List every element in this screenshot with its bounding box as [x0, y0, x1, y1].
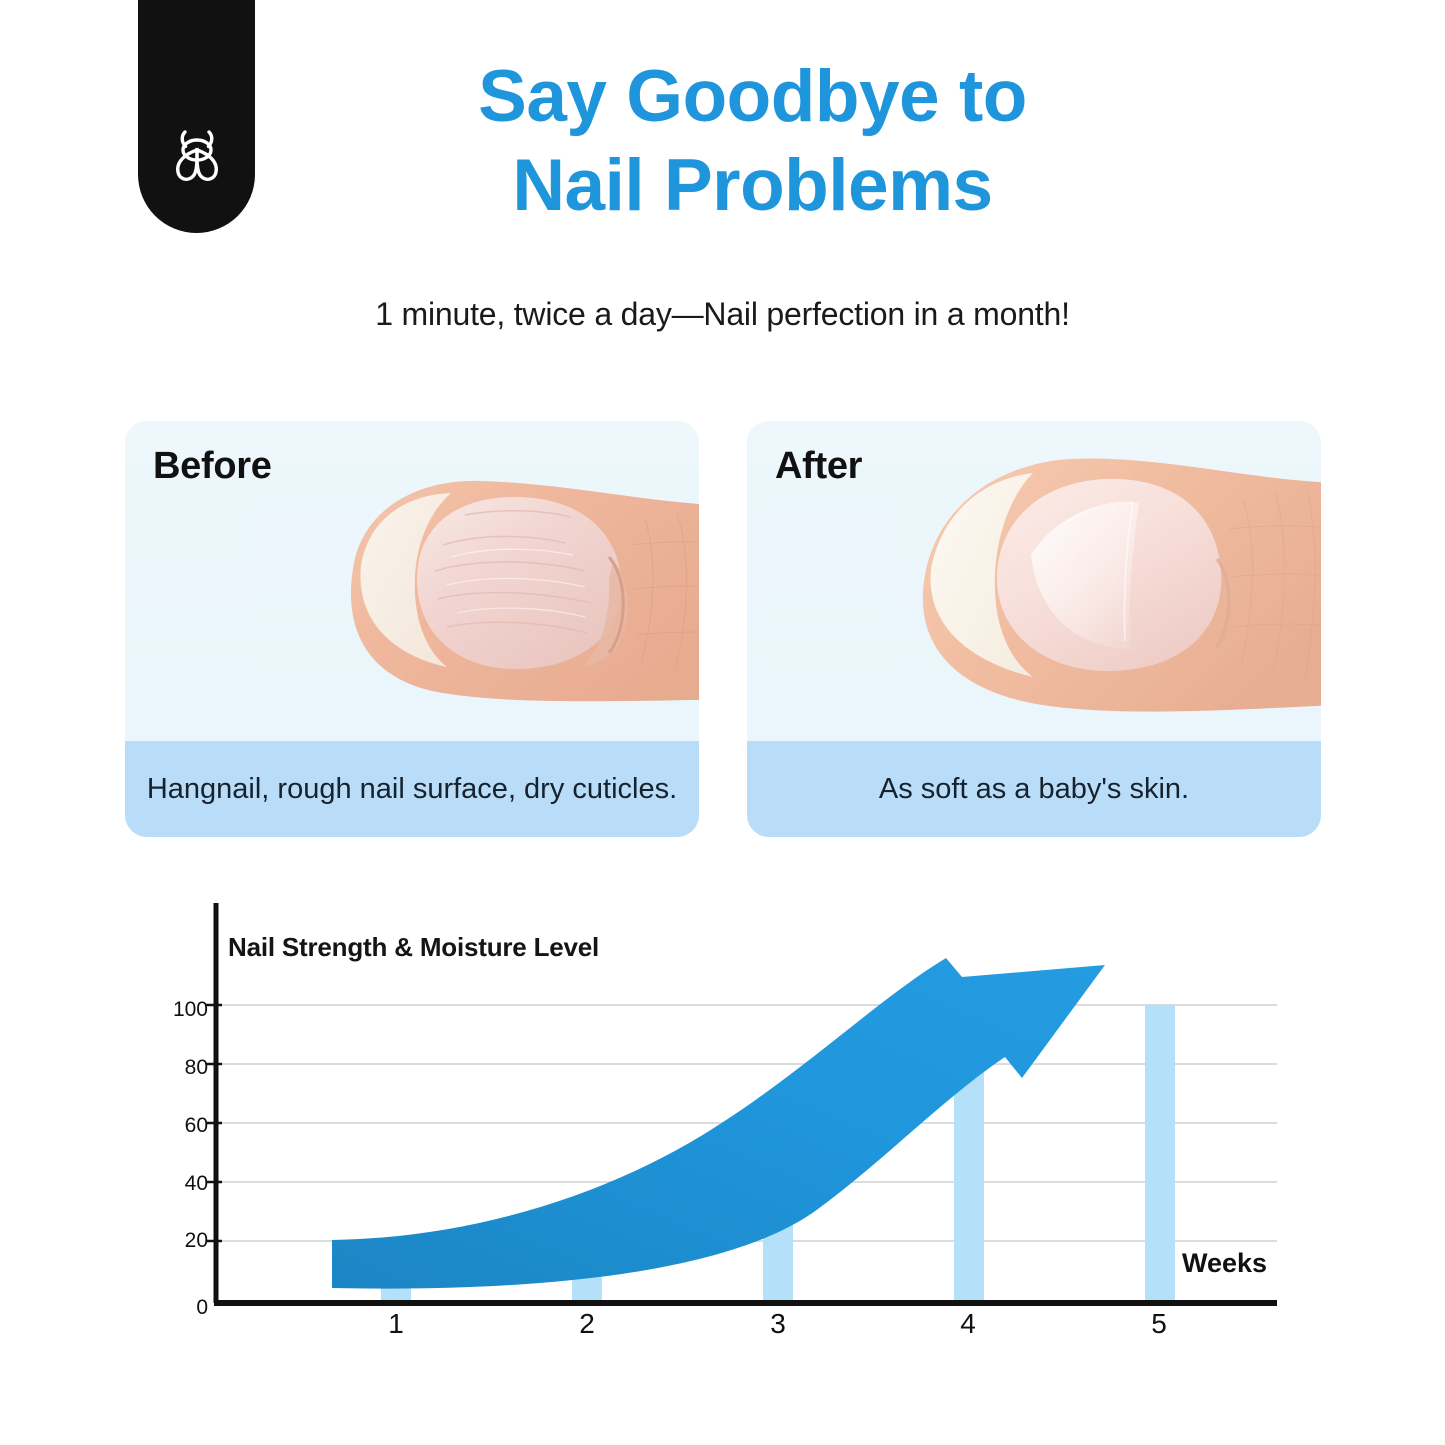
page-title-line1: Say Goodbye to [478, 56, 1027, 137]
chart-bar [1145, 1005, 1175, 1300]
y-tick-20: 20 [160, 1229, 208, 1253]
healthy-fingernail-image [865, 435, 1321, 740]
x-tick-2: 2 [567, 1308, 607, 1340]
y-tick-40: 40 [160, 1172, 208, 1196]
damaged-fingernail-image [265, 449, 699, 739]
comparison-card-after: After [747, 421, 1321, 837]
after-caption: As soft as a baby's skin. [747, 741, 1321, 837]
chart-title: Nail Strength & Moisture Level [228, 932, 599, 963]
before-label: Before [153, 445, 272, 488]
comparison-cards: Before [125, 421, 1321, 837]
before-photo: Before [125, 421, 699, 741]
chart-bar [572, 1217, 602, 1300]
before-caption: Hangnail, rough nail surface, dry cuticl… [125, 741, 699, 837]
chart-bar [954, 1064, 984, 1300]
y-tick-0: 0 [160, 1296, 208, 1320]
x-tick-3: 3 [758, 1308, 798, 1340]
x-tick-4: 4 [948, 1308, 988, 1340]
brand-logo-tab [138, 0, 255, 233]
y-tick-60: 60 [160, 1114, 208, 1138]
page-subtitle: 1 minute, twice a day—Nail perfection in… [0, 296, 1445, 333]
chart-bar [381, 1241, 411, 1300]
page-title-line2: Nail Problems [60, 141, 1445, 230]
chart-xaxis-label: Weeks [1182, 1248, 1267, 1279]
comparison-card-before: Before [125, 421, 699, 837]
y-tick-80: 80 [160, 1056, 208, 1080]
bee-outline-logo-icon [161, 122, 233, 194]
after-photo: After [747, 421, 1321, 741]
after-label: After [775, 445, 862, 488]
x-tick-5: 5 [1139, 1308, 1179, 1340]
chart-bar [763, 1164, 793, 1300]
x-tick-1: 1 [376, 1308, 416, 1340]
y-tick-100: 100 [160, 998, 208, 1022]
